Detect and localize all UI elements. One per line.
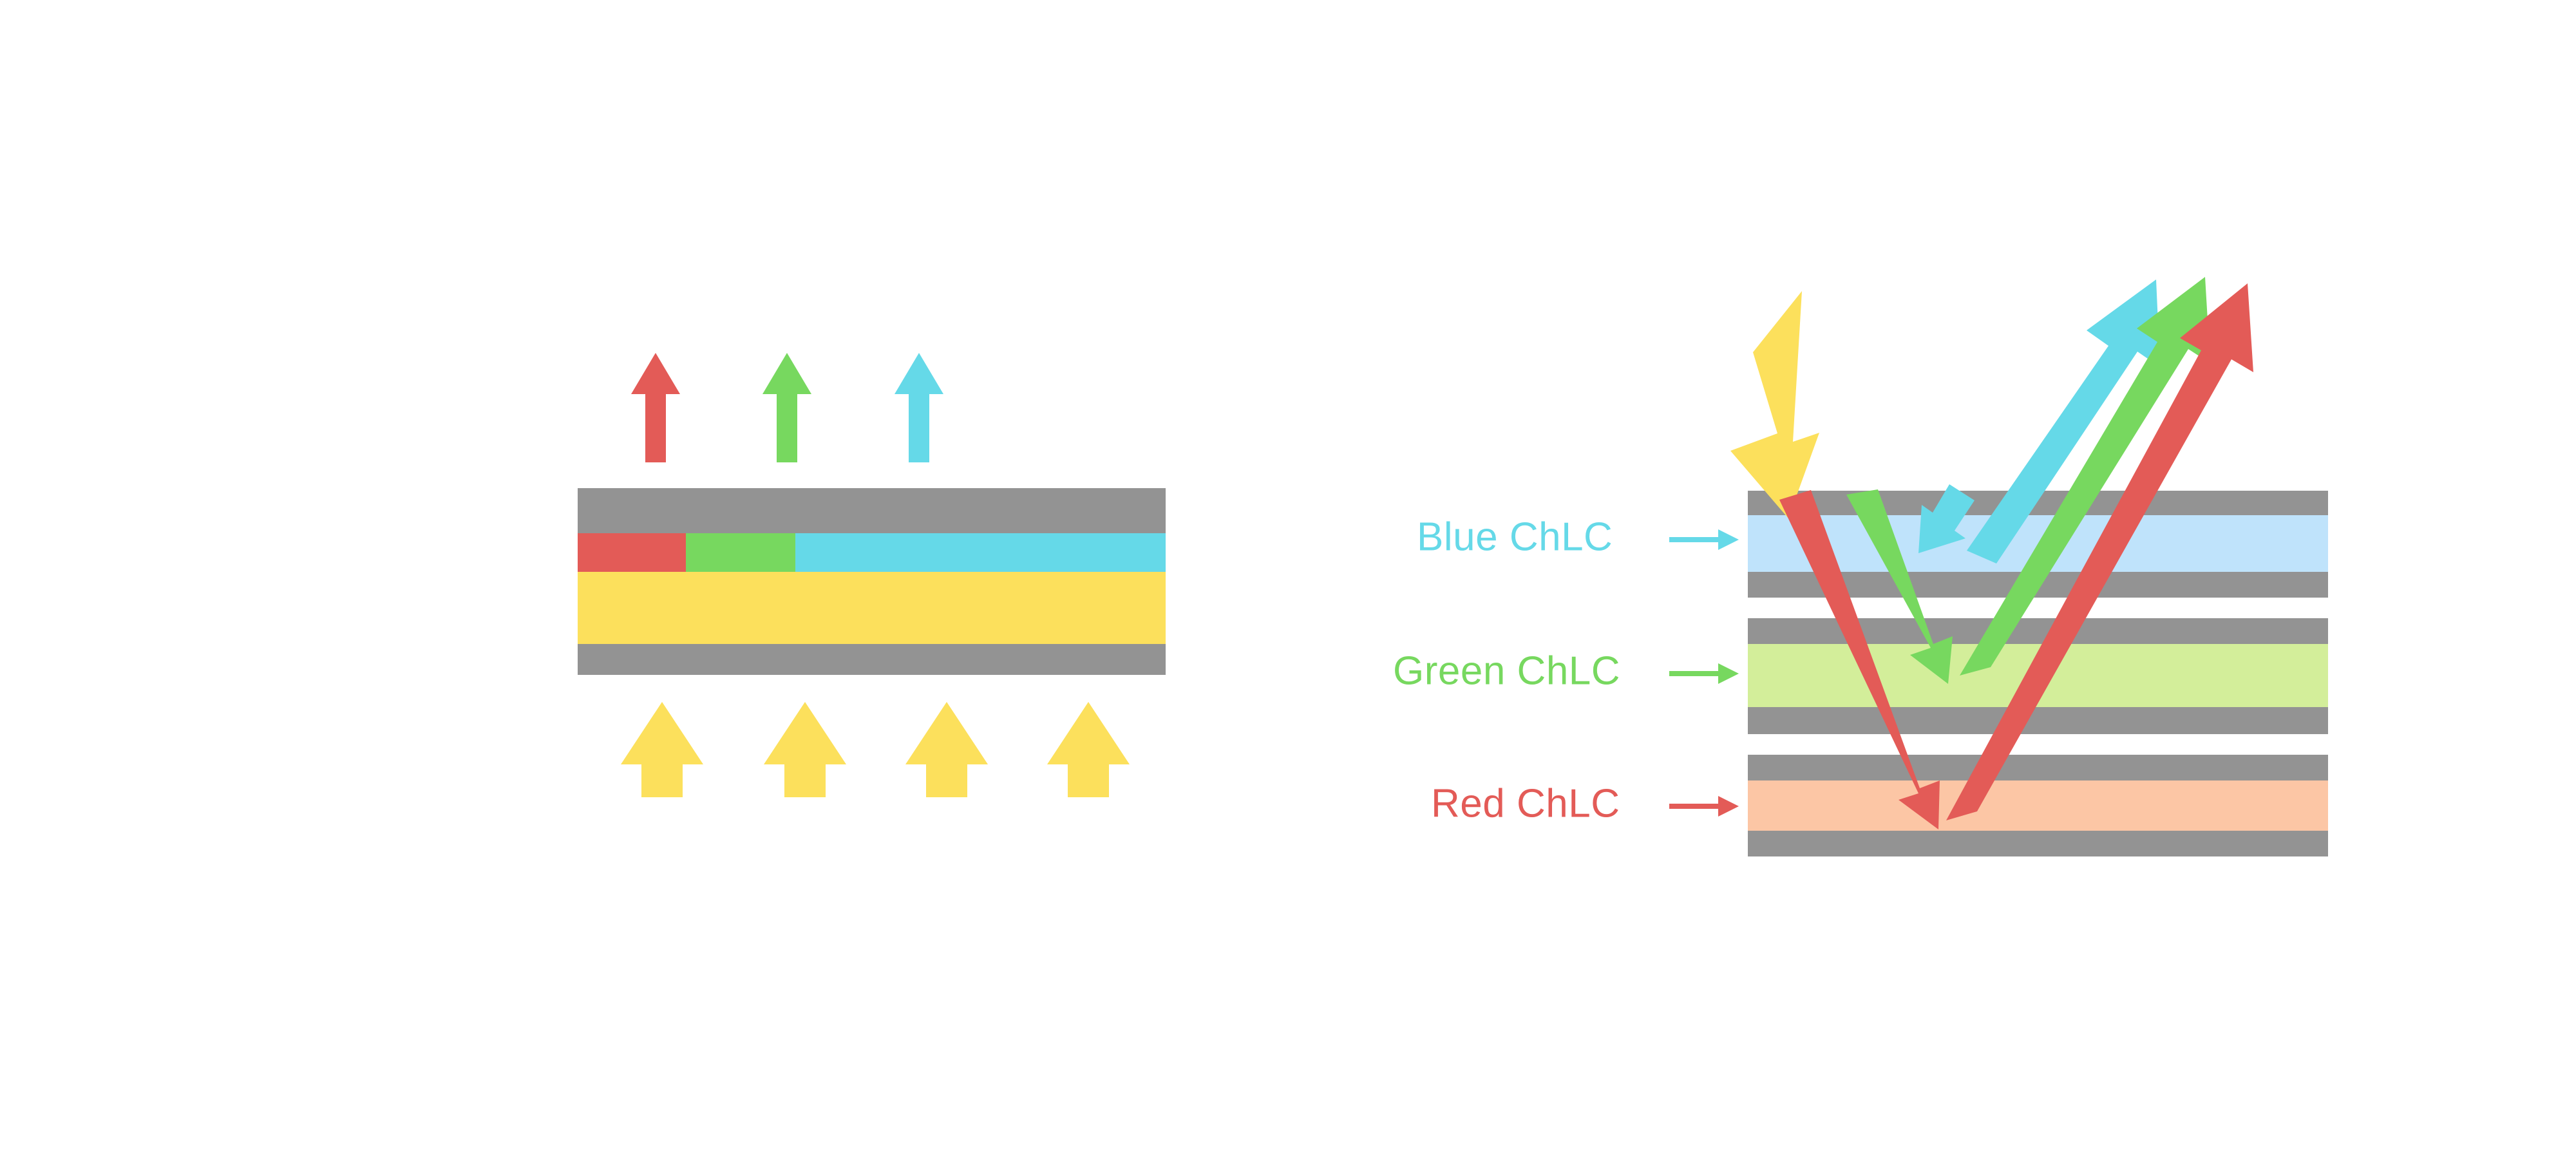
red-chlc-label-text: Red ChLC xyxy=(1431,781,1620,826)
yellow-backlight-arrow xyxy=(764,702,846,797)
red-emitted-arrow xyxy=(631,353,680,462)
yellow-backlight-arrow xyxy=(1047,702,1130,797)
red-chlc-layer xyxy=(1748,780,2328,831)
figure-root: Blue ChLC Green ChLC Red ChLC xyxy=(0,0,2576,1154)
blue-label-arrow-icon xyxy=(1669,529,1739,550)
yellow-backlight-arrow-group xyxy=(621,702,1130,797)
green-filter-segment xyxy=(686,533,795,572)
red-chlc-label: Red ChLC xyxy=(1431,781,1739,826)
green-chlc-label: Green ChLC xyxy=(1393,648,1739,693)
diagram-canvas: Blue ChLC Green ChLC Red ChLC xyxy=(0,0,2576,1154)
ambient-light-incident-arrow xyxy=(1730,291,1819,518)
yellow-backlight-arrow xyxy=(621,702,703,797)
yellow-backlight-arrow xyxy=(905,702,988,797)
emissive-stack-panel xyxy=(578,353,1166,797)
electrode-gray-layer xyxy=(1748,755,2328,780)
reflective-chlc-stack-panel: Blue ChLC Green ChLC Red ChLC xyxy=(1393,277,2328,856)
blue-chlc-label: Blue ChLC xyxy=(1417,515,1739,559)
blue-chlc-label-text: Blue ChLC xyxy=(1417,515,1613,559)
red-filter-segment xyxy=(578,533,686,572)
red-label-arrow-icon xyxy=(1669,796,1739,817)
yellow-backlight-layer xyxy=(578,572,1166,644)
electrode-gray-layer xyxy=(1748,618,2328,644)
green-label-arrow-icon xyxy=(1669,663,1739,684)
cyan-filter-segment xyxy=(795,533,1166,572)
cyan-emitted-arrow xyxy=(895,353,943,462)
electrode-gray-layer xyxy=(1748,831,2328,856)
top-gray-layer xyxy=(578,488,1166,533)
electrode-gray-layer xyxy=(1748,707,2328,734)
bottom-gray-layer xyxy=(578,644,1166,675)
green-emitted-arrow xyxy=(762,353,811,462)
red-chlc-cell xyxy=(1748,755,2328,856)
green-chlc-label-text: Green ChLC xyxy=(1393,648,1620,693)
